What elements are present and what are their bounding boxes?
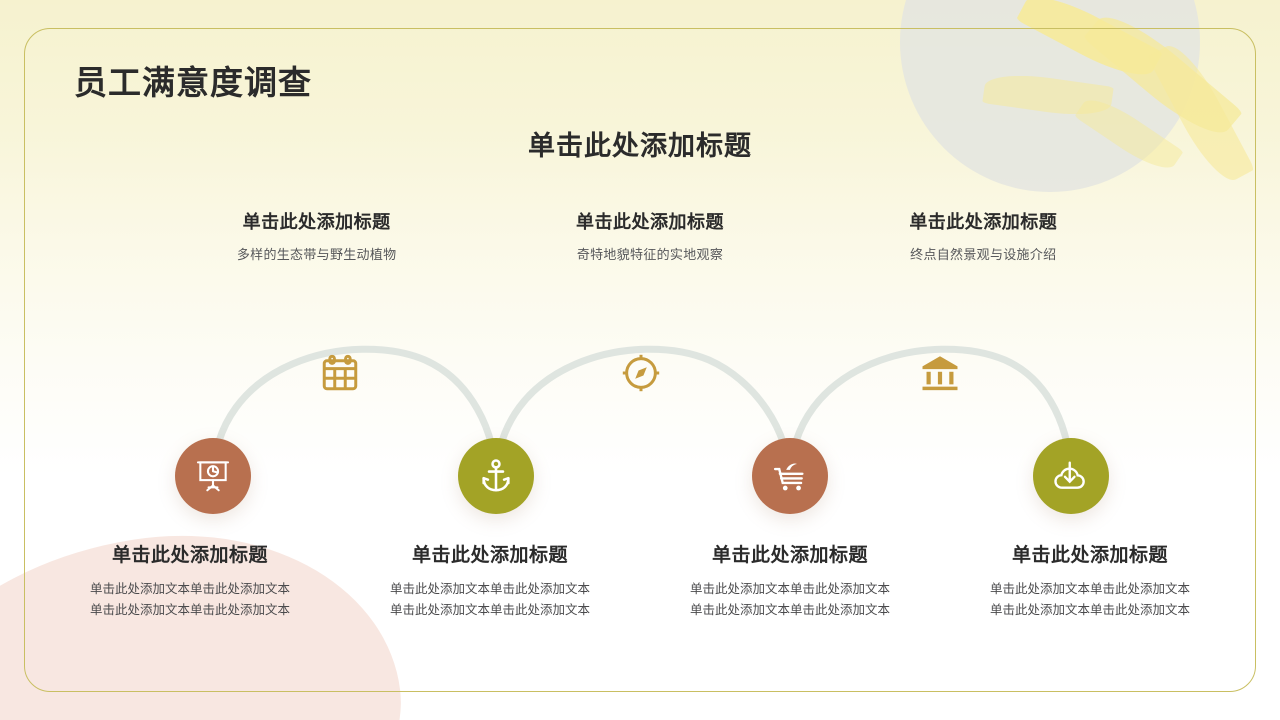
top-column-2-title: 单击此处添加标题 xyxy=(483,208,816,234)
node-cloud-download[interactable] xyxy=(1033,438,1109,514)
bottom-column-4-title: 单击此处添加标题 xyxy=(946,540,1234,567)
node-shopping-cart[interactable] xyxy=(752,438,828,514)
compass-icon xyxy=(620,352,662,394)
calendar-icon xyxy=(319,352,361,394)
bottom-description-row: 单击此处添加标题 单击此处添加文本单击此处添加文本 单击此处添加文本单击此处添加… xyxy=(40,540,1240,620)
bottom-column-1-line1: 单击此处添加文本单击此处添加文本 xyxy=(46,579,334,600)
top-column-3-subtitle: 终点自然景观与设施介绍 xyxy=(817,244,1150,263)
bottom-column-3-title: 单击此处添加标题 xyxy=(646,540,934,567)
bottom-column-2-line2: 单击此处添加文本单击此处添加文本 xyxy=(346,600,634,621)
bottom-column-1-line2: 单击此处添加文本单击此处添加文本 xyxy=(46,600,334,621)
top-header-row: 单击此处添加标题 多样的生态带与野生动植物 单击此处添加标题 奇特地貌特征的实地… xyxy=(150,208,1150,263)
bank-icon xyxy=(919,352,961,394)
top-column-1[interactable]: 单击此处添加标题 多样的生态带与野生动植物 xyxy=(150,208,483,263)
top-column-1-title: 单击此处添加标题 xyxy=(150,208,483,234)
bottom-column-1-title: 单击此处添加标题 xyxy=(46,540,334,567)
bottom-column-2-line1: 单击此处添加文本单击此处添加文本 xyxy=(346,579,634,600)
anchor-icon xyxy=(477,457,515,495)
top-column-2[interactable]: 单击此处添加标题 奇特地貌特征的实地观察 xyxy=(483,208,816,263)
bottom-column-4-body: 单击此处添加文本单击此处添加文本 单击此处添加文本单击此处添加文本 xyxy=(946,579,1234,620)
top-column-2-subtitle: 奇特地貌特征的实地观察 xyxy=(483,244,816,263)
top-column-3[interactable]: 单击此处添加标题 终点自然景观与设施介绍 xyxy=(817,208,1150,263)
cloud-download-icon xyxy=(1052,457,1090,495)
bottom-column-3[interactable]: 单击此处添加标题 单击此处添加文本单击此处添加文本 单击此处添加文本单击此处添加… xyxy=(640,540,940,620)
bottom-column-1-body: 单击此处添加文本单击此处添加文本 单击此处添加文本单击此处添加文本 xyxy=(46,579,334,620)
presentation-chart-icon xyxy=(194,457,232,495)
bottom-column-3-line1: 单击此处添加文本单击此处添加文本 xyxy=(646,579,934,600)
bottom-column-3-line2: 单击此处添加文本单击此处添加文本 xyxy=(646,600,934,621)
bottom-column-2-title: 单击此处添加标题 xyxy=(346,540,634,567)
main-heading: 单击此处添加标题 xyxy=(0,124,1280,163)
shopping-cart-icon xyxy=(771,457,809,495)
node-anchor[interactable] xyxy=(458,438,534,514)
bottom-column-2[interactable]: 单击此处添加标题 单击此处添加文本单击此处添加文本 单击此处添加文本单击此处添加… xyxy=(340,540,640,620)
top-column-3-title: 单击此处添加标题 xyxy=(817,208,1150,234)
bottom-column-2-body: 单击此处添加文本单击此处添加文本 单击此处添加文本单击此处添加文本 xyxy=(346,579,634,620)
bottom-column-4-line1: 单击此处添加文本单击此处添加文本 xyxy=(946,579,1234,600)
slide-canvas: 员工满意度调查 单击此处添加标题 单击此处添加标题 多样的生态带与野生动植物 单… xyxy=(0,0,1280,720)
top-column-1-subtitle: 多样的生态带与野生动植物 xyxy=(150,244,483,263)
node-presentation[interactable] xyxy=(175,438,251,514)
bottom-column-4[interactable]: 单击此处添加标题 单击此处添加文本单击此处添加文本 单击此处添加文本单击此处添加… xyxy=(940,540,1240,620)
bottom-column-4-line2: 单击此处添加文本单击此处添加文本 xyxy=(946,600,1234,621)
page-title: 员工满意度调查 xyxy=(74,56,312,104)
bottom-column-3-body: 单击此处添加文本单击此处添加文本 单击此处添加文本单击此处添加文本 xyxy=(646,579,934,620)
bottom-column-1[interactable]: 单击此处添加标题 单击此处添加文本单击此处添加文本 单击此处添加文本单击此处添加… xyxy=(40,540,340,620)
